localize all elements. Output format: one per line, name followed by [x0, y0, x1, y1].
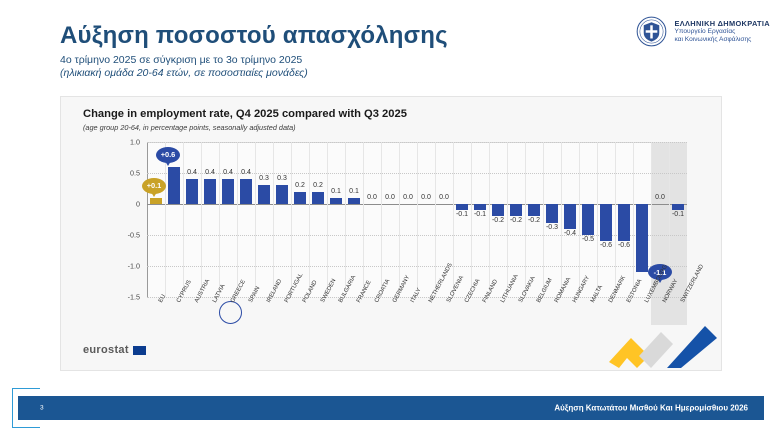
gridline-vertical — [471, 142, 472, 297]
bar-value-label: -0.2 — [489, 217, 507, 224]
bar-value-label: 0.0 — [417, 194, 435, 201]
callout-eu: +0.1 — [142, 178, 166, 194]
gridline-vertical — [543, 142, 544, 297]
gridline-vertical — [255, 142, 256, 297]
bar-malta[interactable] — [582, 204, 593, 235]
chart-subtitle: (age group 20-64, in percentage points, … — [83, 123, 296, 132]
bar-czechia[interactable] — [456, 204, 467, 210]
bar-cyprus[interactable] — [168, 167, 179, 204]
chart-card: Change in employment rate, Q4 2025 compa… — [60, 96, 722, 371]
bar-value-label: -0.4 — [561, 230, 579, 237]
gov-logo-line3: και Κοινωνικής Ασφάλισης — [674, 36, 770, 44]
bar-denmark[interactable] — [600, 204, 611, 241]
bar-value-label: 0.1 — [345, 188, 363, 195]
y-axis-tick: 0.5 — [130, 169, 140, 178]
page-number: 3 — [40, 405, 44, 412]
gridline-vertical — [453, 142, 454, 297]
gridline-vertical — [579, 142, 580, 297]
gov-logo-line1: ΕΛΛΗΝΙΚΗ ΔΗΜΟΚΡΑΤΙΑ — [674, 19, 770, 28]
gridline-vertical — [435, 142, 436, 297]
bar-value-label: 0.2 — [309, 182, 327, 189]
bar-value-label: 0.3 — [273, 175, 291, 182]
gridline-vertical — [273, 142, 274, 297]
bar-value-label: -0.5 — [579, 236, 597, 243]
bar-sweden[interactable] — [312, 192, 323, 204]
footer-bar: 3 Αύξηση Κατωτάτου Μισθού Και Ημερομίσθι… — [18, 396, 764, 420]
decorative-chevron — [609, 322, 717, 368]
bar-romania[interactable] — [546, 204, 557, 223]
bar-value-label: 0.4 — [201, 169, 219, 176]
bar-lithuania[interactable] — [492, 204, 503, 216]
bar-poland[interactable] — [294, 192, 305, 204]
bar-spain[interactable] — [240, 179, 251, 204]
bar-value-label: 0.1 — [327, 188, 345, 195]
y-axis-tick: -1.0 — [128, 262, 140, 271]
y-axis-tick: 1.0 — [130, 138, 140, 147]
page-title: Αύξηση ποσοστού απασχόλησης — [60, 22, 448, 50]
bar-greece[interactable] — [222, 179, 233, 204]
government-logo-text: ΕΛΛΗΝΙΚΗ ΔΗΜΟΚΡΑΤΙΑ Υπουργείο Εργασίας κ… — [674, 19, 770, 45]
bar-slovakia[interactable] — [510, 204, 521, 216]
y-axis-tick: -0.5 — [128, 231, 140, 240]
bar-belgium[interactable] — [528, 204, 539, 216]
bar-hungary[interactable] — [564, 204, 575, 229]
bar-value-label: -0.2 — [525, 217, 543, 224]
bar-portugal[interactable] — [276, 185, 287, 204]
gridline-vertical — [201, 142, 202, 297]
bar-estonia[interactable] — [618, 204, 629, 241]
gridline-vertical — [363, 142, 364, 297]
gridline-vertical — [381, 142, 382, 297]
bar-value-label: -0.1 — [471, 211, 489, 218]
gridline-vertical — [561, 142, 562, 297]
bar-finland[interactable] — [474, 204, 485, 210]
bar-value-label: 0.0 — [363, 194, 381, 201]
bar-france[interactable] — [348, 198, 359, 204]
bar-value-label: 0.4 — [183, 169, 201, 176]
bar-value-label: 0.3 — [255, 175, 273, 182]
y-axis-tick: -1.5 — [128, 293, 140, 302]
bar-value-label: 0.0 — [651, 194, 669, 201]
gridline-vertical — [291, 142, 292, 297]
bar-eu[interactable] — [150, 198, 161, 204]
eu-flag-icon — [133, 346, 146, 355]
greek-coat-of-arms-icon — [636, 16, 667, 47]
footer-title: Αύξηση Κατωτάτου Μισθού Και Ημερομίσθιου… — [554, 404, 748, 413]
y-axis-tick: 0 — [136, 200, 140, 209]
bar-switzerland[interactable] — [672, 204, 683, 210]
bar-value-label: -0.1 — [453, 211, 471, 218]
bar-luxembourg[interactable] — [636, 204, 647, 272]
bar-latvia[interactable] — [204, 179, 215, 204]
gov-logo-line2: Υπουργείο Εργασίας — [674, 28, 770, 36]
gridline-vertical — [237, 142, 238, 297]
gridline-vertical — [219, 142, 220, 297]
bar-value-label: 0.4 — [219, 169, 237, 176]
bar-value-label: 0.0 — [399, 194, 417, 201]
gridline-vertical — [417, 142, 418, 297]
page-subtitle-line1: 4ο τρίμηνο 2025 σε σύγκριση με το 3ο τρί… — [60, 54, 302, 66]
gridline-vertical — [183, 142, 184, 297]
bar-value-label: -0.1 — [669, 211, 687, 218]
bar-ireland[interactable] — [258, 185, 269, 204]
bar-value-label: 0.0 — [435, 194, 453, 201]
gridline-vertical — [399, 142, 400, 297]
bar-chart-plot: 1.00.50-0.5-1.0-1.5 0.40.40.40.40.30.30.… — [147, 142, 687, 297]
bar-value-label: -0.6 — [615, 242, 633, 249]
gridline-vertical — [597, 142, 598, 297]
government-logo: ΕΛΛΗΝΙΚΗ ΔΗΜΟΚΡΑΤΙΑ Υπουργείο Εργασίας κ… — [636, 16, 770, 47]
gridline-vertical — [327, 142, 328, 297]
gridline-vertical — [345, 142, 346, 297]
callout-cyprus: +0.6 — [156, 147, 180, 163]
eurostat-wordmark: eurostat — [83, 344, 129, 356]
gridline-vertical — [615, 142, 616, 297]
greece-highlight-circle — [219, 301, 242, 324]
bar-value-label: 0.4 — [237, 169, 255, 176]
bar-austria[interactable] — [186, 179, 197, 204]
bar-bulgaria[interactable] — [330, 198, 341, 204]
gridline-vertical — [633, 142, 634, 297]
bar-value-label: -0.2 — [507, 217, 525, 224]
bar-value-label: -0.6 — [597, 242, 615, 249]
bar-value-label: 0.2 — [291, 182, 309, 189]
chart-title: Change in employment rate, Q4 2025 compa… — [83, 108, 407, 120]
bar-value-label: 0.0 — [381, 194, 399, 201]
page-subtitle-line2: (ηλικιακή ομάδα 20-64 ετών, σε ποσοστιαί… — [60, 67, 308, 79]
bar-value-label: -0.3 — [543, 224, 561, 231]
gridline-vertical — [309, 142, 310, 297]
eurostat-source-logo: eurostat — [83, 344, 146, 356]
